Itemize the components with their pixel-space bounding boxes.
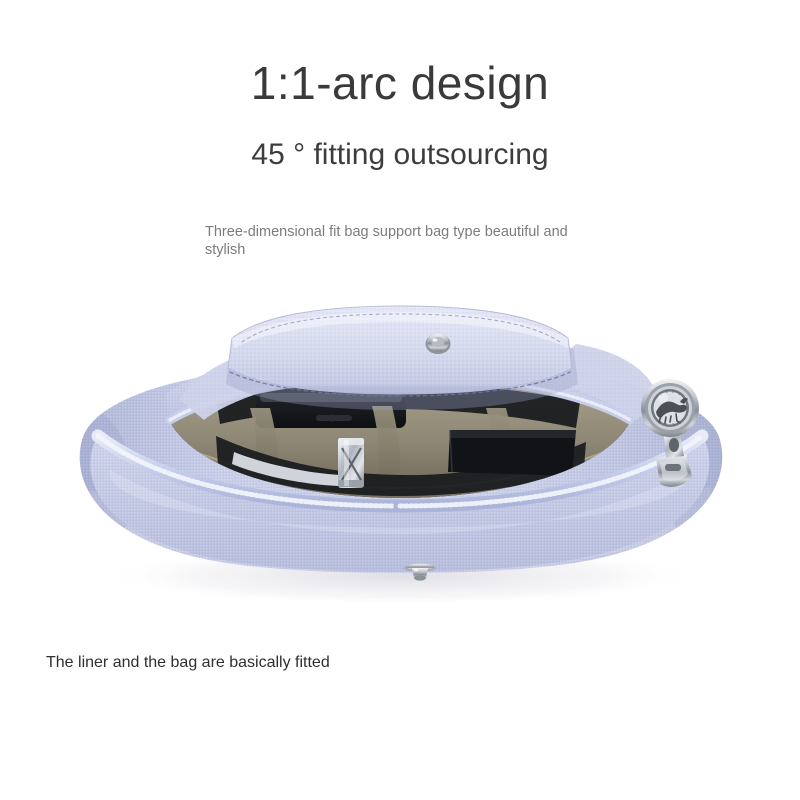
headline: 1:1-arc design bbox=[0, 58, 800, 109]
subheadline: 45 ° fitting outsourcing bbox=[0, 138, 800, 173]
body-copy: Three-dimensional fit bag support bag ty… bbox=[205, 224, 597, 260]
snap-button bbox=[426, 334, 451, 354]
product-photo bbox=[20, 290, 780, 620]
card-holder-item bbox=[448, 430, 576, 476]
lipstick-item bbox=[338, 438, 364, 488]
caption: The liner and the bag are basically fitt… bbox=[46, 653, 346, 673]
bag-illustration bbox=[20, 290, 780, 620]
product-marketing-image: 1:1-arc design 45 ° fitting outsourcing … bbox=[0, 0, 800, 800]
